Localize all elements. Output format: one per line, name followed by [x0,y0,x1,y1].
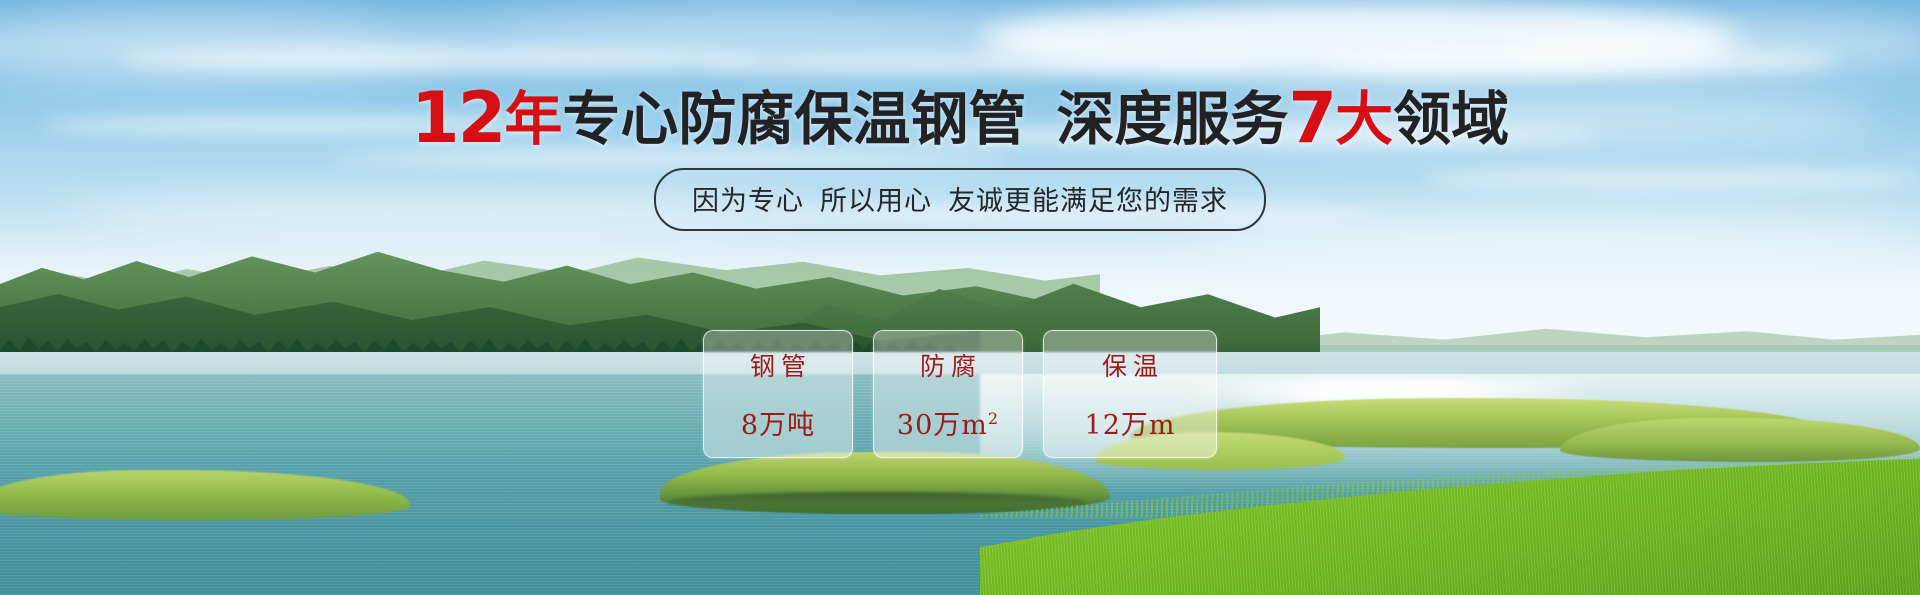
headline-years-number: 12 [411,77,504,159]
headline-fields-unit: 大 [1335,85,1393,153]
stat-label: 钢管 [744,347,812,383]
stat-card-insulation: 保温 12万m [1043,330,1217,458]
stat-value: 30万m2 [897,403,999,442]
stat-card-steel-pipe: 钢管 8万吨 [703,330,853,458]
headline-years-unit: 年 [504,85,562,153]
stat-card-group: 钢管 8万吨 防腐 30万m2 保温 12万m [703,330,1217,458]
stat-label: 防腐 [914,347,982,383]
banner-headline: 12年专心防腐保温钢管深度服务7大领域 [0,83,1920,153]
headline-fields-text: 领域 [1393,85,1509,153]
stat-value-base: 12万m [1085,410,1176,441]
headline-service-text: 深度服务 [1056,85,1288,153]
stat-card-anticorrosion: 防腐 30万m2 [873,330,1023,458]
stat-value-superscript: 2 [988,409,999,428]
stat-value: 8万吨 [741,403,815,442]
hero-banner: 12年专心防腐保温钢管深度服务7大领域 因为专心所以用心友诚更能满足您的需求 钢… [0,0,1920,595]
stat-value-base: 30万m [897,410,988,441]
headline-main-text: 专心防腐保温钢管 [562,85,1026,153]
headline-fields-number: 7 [1288,77,1335,159]
subtitle-part-3: 友诚更能满足您的需求 [948,186,1228,217]
subtitle-part-2: 所以用心 [820,186,932,217]
banner-subtitle-pill: 因为专心所以用心友诚更能满足您的需求 [654,168,1266,231]
subtitle-part-1: 因为专心 [692,186,804,217]
stat-label: 保温 [1096,347,1164,383]
banner-content: 12年专心防腐保温钢管深度服务7大领域 因为专心所以用心友诚更能满足您的需求 钢… [0,0,1920,595]
stat-value-base: 8万吨 [741,410,815,441]
stat-value: 12万m [1085,403,1176,442]
